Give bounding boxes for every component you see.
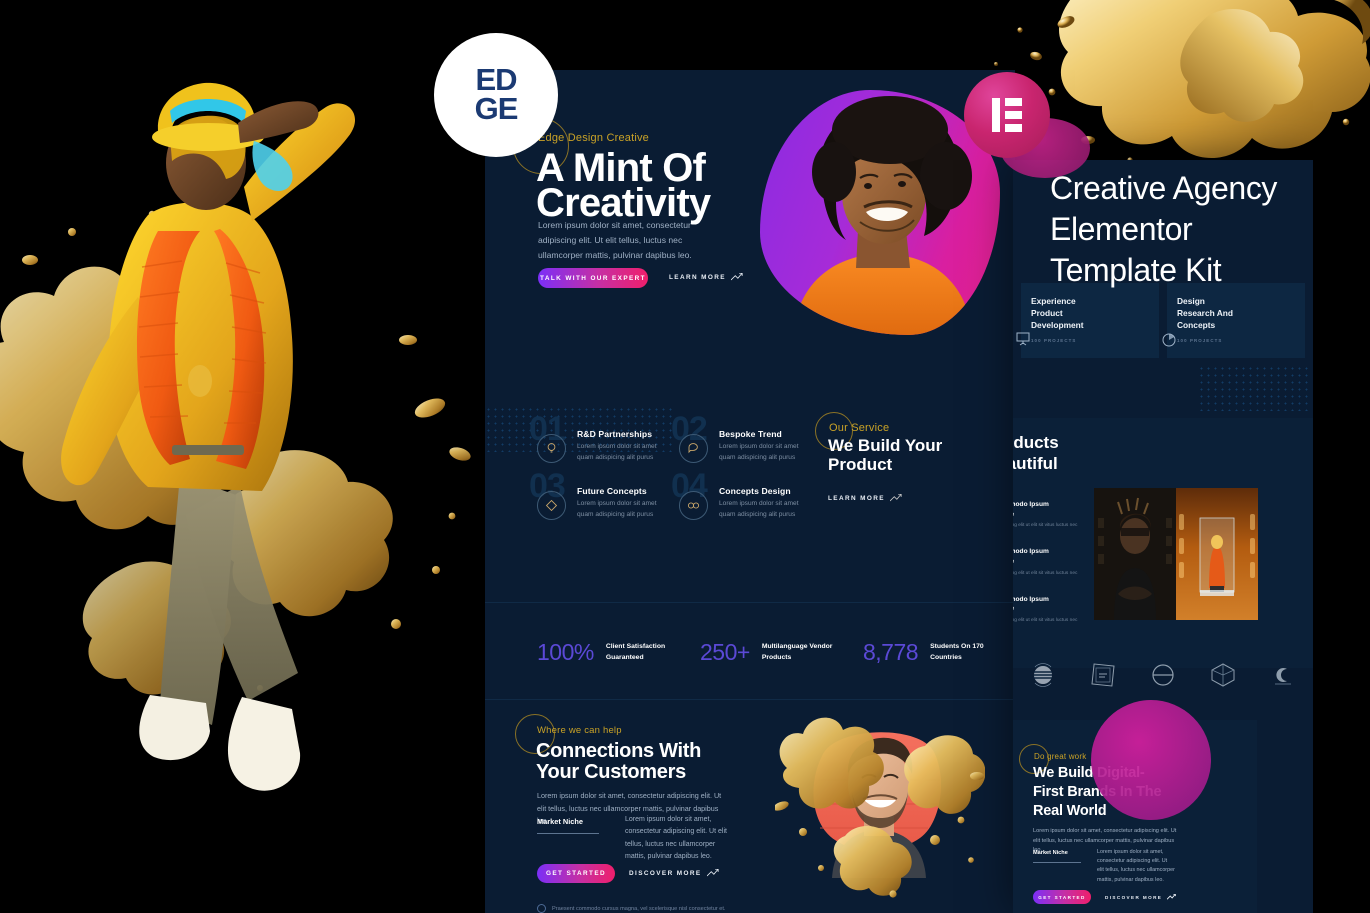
moon-swirl-logo[interactable] [1269, 661, 1297, 689]
chat-bubble-glyph [687, 442, 700, 455]
gallery-image-dreadlocks[interactable] [1094, 488, 1176, 620]
gallery-image-glassbox[interactable] [1176, 488, 1258, 620]
stat-label-line1: Client Satisfaction [606, 643, 665, 650]
stat-value: 250+ [700, 639, 750, 666]
client-logo-strip [1019, 650, 1307, 700]
dancer-photo-illustration [30, 45, 450, 845]
testimonial-portrait [794, 718, 962, 878]
cube-logo[interactable] [1209, 661, 1237, 689]
discover-more-label: DISCOVER MORE [629, 870, 702, 877]
circle-line-logo[interactable] [1149, 661, 1177, 689]
feature-card-design[interactable]: Design Research And Concepts 100 PROJECT… [1167, 283, 1305, 358]
feature-title-line2: Research And [1177, 308, 1233, 318]
dreadlocks-portrait-svg [1094, 488, 1176, 620]
stat-item-2: 8,778 Students On 170 Countries [863, 639, 984, 666]
cta-discover-more-button[interactable]: DISCOVER MORE [1105, 894, 1176, 900]
list-item[interactable]: Commodo Ipsum Fusce Adipiscing elit ut e… [1013, 595, 1087, 632]
pie-chart-icon [1161, 332, 1177, 348]
service-title-line2: Product [828, 455, 892, 475]
service-desc: Lorem ipsum dolor sit amet quam adispici… [719, 442, 811, 463]
hero-eyebrow: Edge Design Creative [538, 132, 649, 144]
elementor-bar-top [1005, 98, 1022, 106]
arrow-up-right-icon [1167, 894, 1176, 900]
service-title-line1: We Build Your [828, 436, 942, 456]
elementor-bar-bottom [1005, 124, 1022, 132]
stat-label-line2: Countries [930, 654, 962, 661]
cta-market-niche-paragraph: Lorem ipsum dolor sit amet, consectetur … [1097, 848, 1175, 885]
list-title-line2: Fusce [1013, 558, 1014, 565]
elementor-bar-mid [1005, 111, 1022, 119]
cta-title-line3: Real World [1033, 803, 1106, 819]
feature-title-line2: Product [1031, 308, 1063, 318]
service-desc: Lorem ipsum dolor sit amet quam adispici… [577, 499, 669, 520]
hero-paragraph: Lorem ipsum dolor sit amet, consectetur … [538, 218, 724, 263]
list-item-desc: Adipiscing elit ut elit sit vitus luctus… [1013, 617, 1087, 632]
promo-line2: Elementor [1050, 211, 1192, 247]
stat-label-line2: Products [762, 654, 791, 661]
elementor-mark [992, 98, 1022, 132]
feature-card-title: Design Research And Concepts [1177, 295, 1295, 332]
service-title: Concepts Design [719, 486, 791, 496]
stat-value: 100% [537, 639, 594, 666]
center-template-preview: Edge Design Creative A Mint Of Creativit… [485, 70, 1015, 913]
products-section: Products Beautiful Commodo Ipsum Fusce A… [1013, 418, 1313, 668]
elementor-logo-badge[interactable] [964, 72, 1050, 158]
framed-square-logo[interactable] [1089, 661, 1117, 689]
feature-card-meta: 100 PROJECTS [1177, 338, 1295, 343]
list-title-line2: Fusce [1013, 605, 1014, 612]
elementor-bar-vertical [992, 98, 1000, 132]
feature-card-experience[interactable]: Experience Product Development 100 PROJE… [1021, 283, 1159, 358]
list-title-line1: Commodo Ipsum [1013, 501, 1049, 508]
arrow-up-right-icon [731, 273, 743, 281]
service-title: Bespoke Trend [719, 429, 782, 439]
lightbulb-icon [537, 434, 566, 463]
poster-canvas: Edge Design Creative A Mint Of Creativit… [0, 0, 1370, 913]
lightbulb-glyph [545, 442, 558, 455]
service-desc: Lorem ipsum dolor sit amet quam adispici… [719, 499, 811, 520]
footnote-text: Praesent commodo cursus magna, vel scele… [552, 906, 726, 912]
list-item-title: Commodo Ipsum Fusce [1013, 500, 1087, 519]
stat-value: 8,778 [863, 639, 918, 666]
list-item-title: Commodo Ipsum Fusce [1013, 547, 1087, 566]
glassbox-portrait-svg [1176, 488, 1258, 620]
cta-get-started-button[interactable]: GET STARTED [1033, 890, 1091, 904]
hero-portrait-illustration [760, 90, 1000, 335]
service-eyebrow: Our Service [829, 422, 889, 434]
stat-item-1: 250+ Multilanguage Vendor Products [700, 639, 832, 666]
service-title: R&D Partnerships [577, 429, 652, 439]
presentation-board-icon [1015, 332, 1031, 346]
feature-card-title: Experience Product Development [1031, 295, 1149, 332]
connections-title-line2: Your Customers [536, 761, 686, 784]
list-title-line1: Commodo Ipsum [1013, 548, 1049, 555]
connections-eyebrow: Where we can help [537, 725, 622, 736]
cta-eyebrow: Do great work [1034, 752, 1086, 761]
stat-label: Multilanguage Vendor Products [762, 642, 833, 663]
feature-card-meta: 100 PROJECTS [1031, 338, 1149, 343]
list-item-title: Commodo Ipsum Fusce [1013, 595, 1087, 614]
diamond-icon [537, 491, 566, 520]
hero-learn-more-button[interactable]: LEARN MORE [669, 273, 743, 281]
feature-title-line3: Concepts [1177, 320, 1215, 330]
hero-portrait-blob [760, 90, 1000, 335]
get-started-button[interactable]: GET STARTED [537, 864, 615, 883]
service-title: Future Concepts [577, 486, 647, 496]
list-title-line2: Fusce [1013, 511, 1014, 518]
stat-label-line1: Students On 170 [930, 643, 984, 650]
stat-label-line1: Multilanguage Vendor [762, 643, 833, 650]
talk-with-expert-button[interactable]: TALK WITH OUR EXPERT [538, 268, 648, 288]
service-learn-more-button[interactable]: LEARN MORE [828, 494, 902, 502]
cta-market-niche-label: Market Niche [1033, 850, 1068, 856]
infinity-icon [679, 491, 708, 520]
striped-sphere-logo[interactable] [1029, 661, 1057, 689]
cta-discover-more-label: DISCOVER MORE [1105, 895, 1162, 900]
edge-brand-logo[interactable]: ED GE [434, 33, 558, 157]
stat-label: Students On 170 Countries [930, 642, 984, 663]
promo-headline: Creative Agency Elementor Template Kit [1050, 168, 1277, 291]
connections-footnote: Praesent commodo cursus magna, vel scele… [537, 904, 726, 913]
feature-title-line1: Design [1177, 296, 1205, 306]
services-section: 01 R&D Partnerships Lorem ipsum dolor si… [485, 400, 1015, 600]
products-list: Commodo Ipsum Fusce Adipiscing elit ut e… [1013, 500, 1087, 632]
hero-learn-more-label: LEARN MORE [669, 274, 726, 281]
infinity-glyph [686, 499, 701, 512]
list-item[interactable]: Commodo Ipsum Fusce Adipiscing elit ut e… [1013, 547, 1087, 584]
service-desc: Lorem ipsum dolor sit amet quam adispici… [577, 442, 669, 463]
arrow-up-right-icon [707, 869, 719, 877]
stats-section: 100% Client Satisfaction Guaranteed 250+… [485, 603, 1015, 699]
discover-more-button[interactable]: DISCOVER MORE [629, 869, 719, 877]
chat-bubble-icon [679, 434, 708, 463]
stat-item-0: 100% Client Satisfaction Guaranteed [537, 639, 665, 666]
list-item[interactable]: Commodo Ipsum Fusce Adipiscing elit ut e… [1013, 500, 1087, 537]
feature-title-line1: Experience [1031, 296, 1076, 306]
info-dot-icon [537, 904, 546, 913]
magenta-accent-blob [1091, 700, 1211, 820]
testimonial-portrait-svg [794, 718, 962, 878]
cta-market-niche-rule [1033, 862, 1081, 863]
list-item-desc: Adipiscing elit ut elit sit vitus luctus… [1013, 522, 1087, 537]
connections-title-line1: Connections With [536, 740, 701, 763]
connections-section: Where we can help Connections With Your … [485, 700, 1015, 913]
promo-line3: Template Kit [1050, 252, 1221, 288]
list-title-line1: Commodo Ipsum [1013, 596, 1049, 603]
products-heading-line2: Beautiful [1013, 454, 1058, 473]
promo-line1: Creative Agency [1050, 170, 1277, 206]
stat-label: Client Satisfaction Guaranteed [606, 642, 665, 663]
market-niche-rule [537, 833, 599, 834]
dancer-svg [30, 45, 450, 845]
market-niche-paragraph: Lorem ipsum dolor sit amet, consectetur … [625, 814, 727, 863]
products-heading-line1: Products [1013, 433, 1059, 452]
hero-section: Edge Design Creative A Mint Of Creativit… [485, 70, 1015, 400]
feature-cards-row: Experience Product Development 100 PROJE… [1021, 283, 1305, 358]
list-item-desc: Adipiscing elit ut elit sit vitus luctus… [1013, 570, 1087, 585]
feature-title-line3: Development [1031, 320, 1084, 330]
market-niche-label: Market Niche [537, 817, 583, 826]
stat-label-line2: Guaranteed [606, 654, 644, 661]
service-learn-more-label: LEARN MORE [828, 495, 885, 502]
arrow-up-right-icon [890, 494, 902, 502]
right-dot-grid [1198, 365, 1310, 411]
products-heading: Products Beautiful [1013, 432, 1059, 475]
diamond-glyph [545, 499, 558, 512]
edge-logo-line2: GE [475, 95, 518, 124]
